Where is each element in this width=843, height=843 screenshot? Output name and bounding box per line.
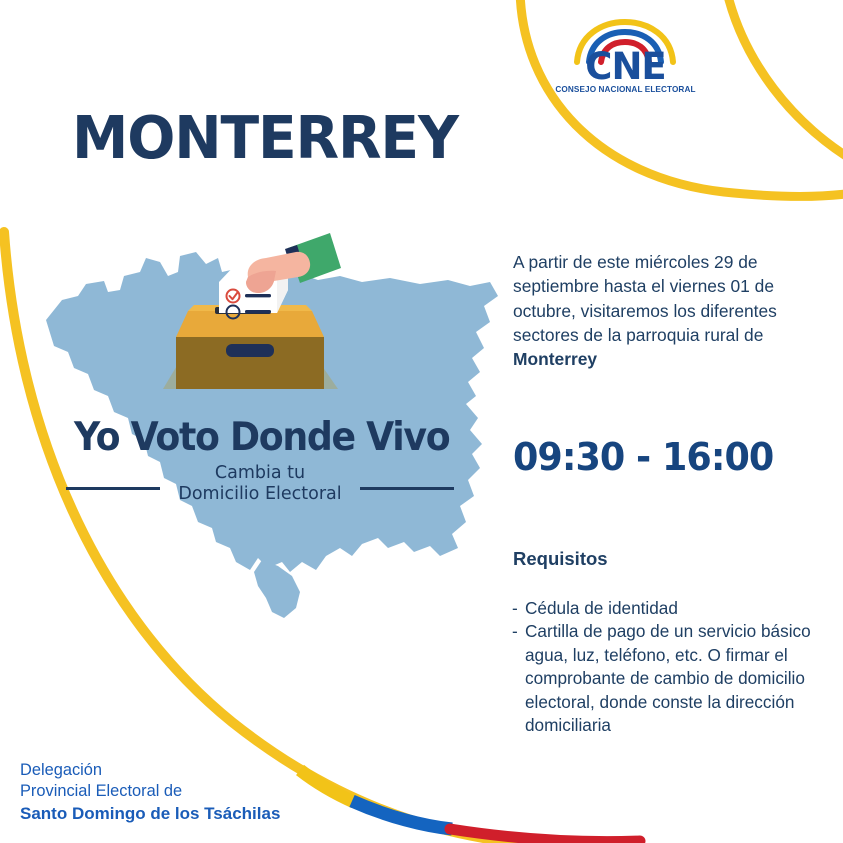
delegation-line-1: Delegación [20,761,102,779]
ballot-box-body [176,337,324,389]
campaign-slogan-sub: Cambia tu Domicilio Electoral [60,463,460,504]
flag-ribbon-yellow [300,770,354,802]
delegation-line-2: Provincial Electoral de [20,782,182,800]
requirements-list: - Cédula de identidad - Cartilla de pago… [512,597,842,737]
list-item-text: Cartilla de pago de un servicio básico a… [525,620,842,737]
list-item-dash: - [512,597,525,620]
intro-paragraph: A partir de este miércoles 29 de septiem… [513,250,835,372]
campaign-slogan-rule-row: Cambia tu Domicilio Electoral [60,465,460,511]
list-item: - Cartilla de pago de un servicio básico… [512,620,842,737]
cne-logo[interactable]: CNE CONSEJO NACIONAL ELECTORAL [553,18,698,100]
flag-ribbon-red [450,829,640,842]
list-item: - Cédula de identidad [512,597,842,620]
ballot-box-handle [226,344,274,357]
ballot-box-lid-top [188,305,312,311]
delegation-footer: Delegación Provincial Electoral de Santo… [20,760,280,825]
ballot-box-shadow [163,334,338,389]
delegation-province: Santo Domingo de los Tsáchilas [20,803,280,825]
requirements-title: Requisitos [513,550,608,569]
page-title: MONTERREY [72,108,458,167]
campaign-slogan-main: Yo Voto Donde Vivo [74,418,446,457]
flag-ribbon-blue [352,801,452,829]
yellow-arc-left-sweep [4,232,520,843]
ballot-paper [219,262,288,319]
poster-canvas: CNE CONSEJO NACIONAL ELECTORAL MONTERREY… [0,0,843,843]
voting-hand-illustration [246,233,341,293]
intro-place-name: Monterrey [513,347,835,371]
ballot-box-slot [215,307,271,314]
yellow-arc-lens-outer [726,0,843,168]
cne-logo-subtitle: CONSEJO NACIONAL ELECTORAL [553,86,698,94]
ballot-box-lid [176,311,324,337]
service-hours: 09:30 - 16:00 [513,438,773,476]
intro-text: A partir de este miércoles 29 de septiem… [513,252,777,345]
campaign-slogan-block: Yo Voto Donde Vivo Cambia tu Domicilio E… [60,418,460,511]
list-item-text: Cédula de identidad [525,597,842,620]
list-item-dash: - [512,620,525,643]
cne-wordmark: CNE [553,48,698,85]
